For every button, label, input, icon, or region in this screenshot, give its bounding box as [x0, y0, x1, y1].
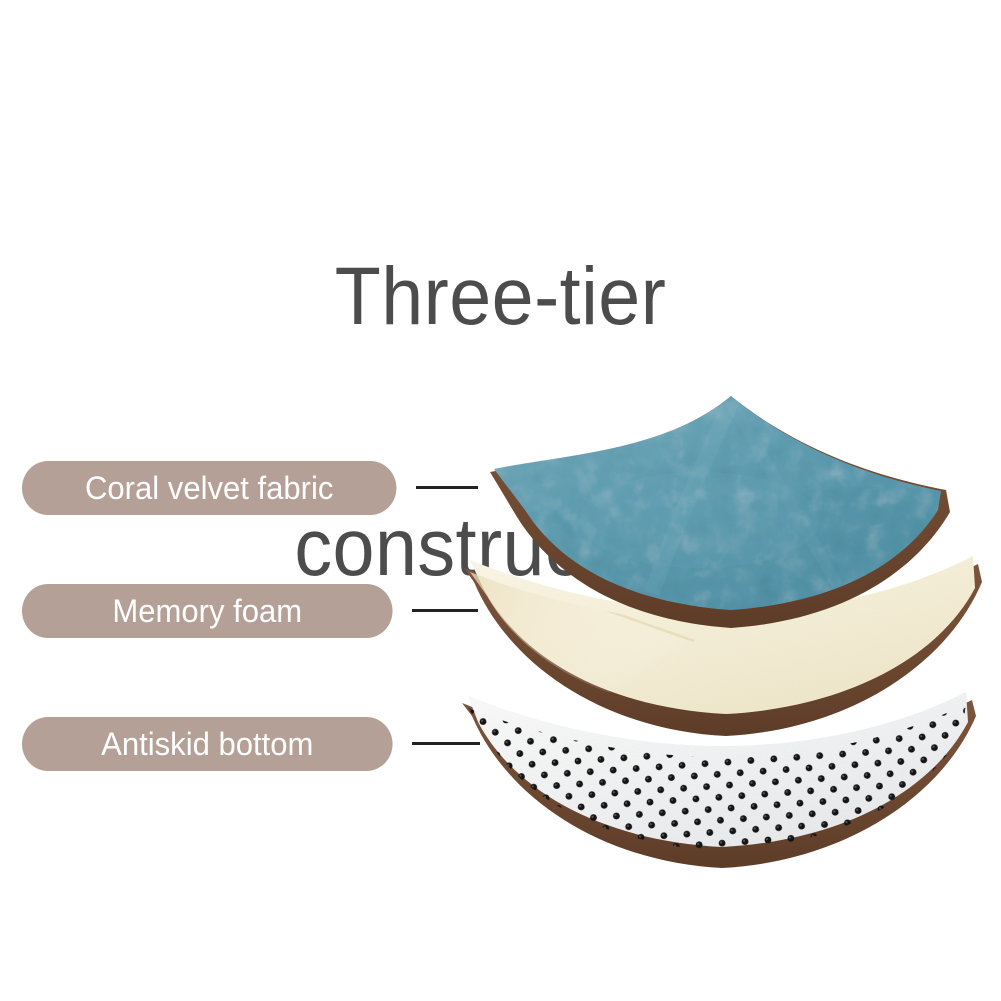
- callout-label-memory-foam[interactable]: Memory foam: [22, 584, 393, 638]
- leader-line-coral-velvet-fabric: [416, 486, 478, 489]
- leader-line-antiskid-bottom: [412, 742, 480, 745]
- leader-line-memory-foam: [412, 609, 478, 612]
- infographic-page: Three-tier construction: [0, 0, 1001, 1001]
- callout-label-antiskid-bottom[interactable]: Antiskid bottom: [22, 717, 393, 771]
- page-title: Three-tier construction: [40, 88, 961, 757]
- page-title-line-2: construction: [40, 506, 961, 590]
- page-title-line-1: Three-tier: [40, 255, 961, 339]
- callout-label-coral-velvet-fabric[interactable]: Coral velvet fabric: [22, 461, 396, 515]
